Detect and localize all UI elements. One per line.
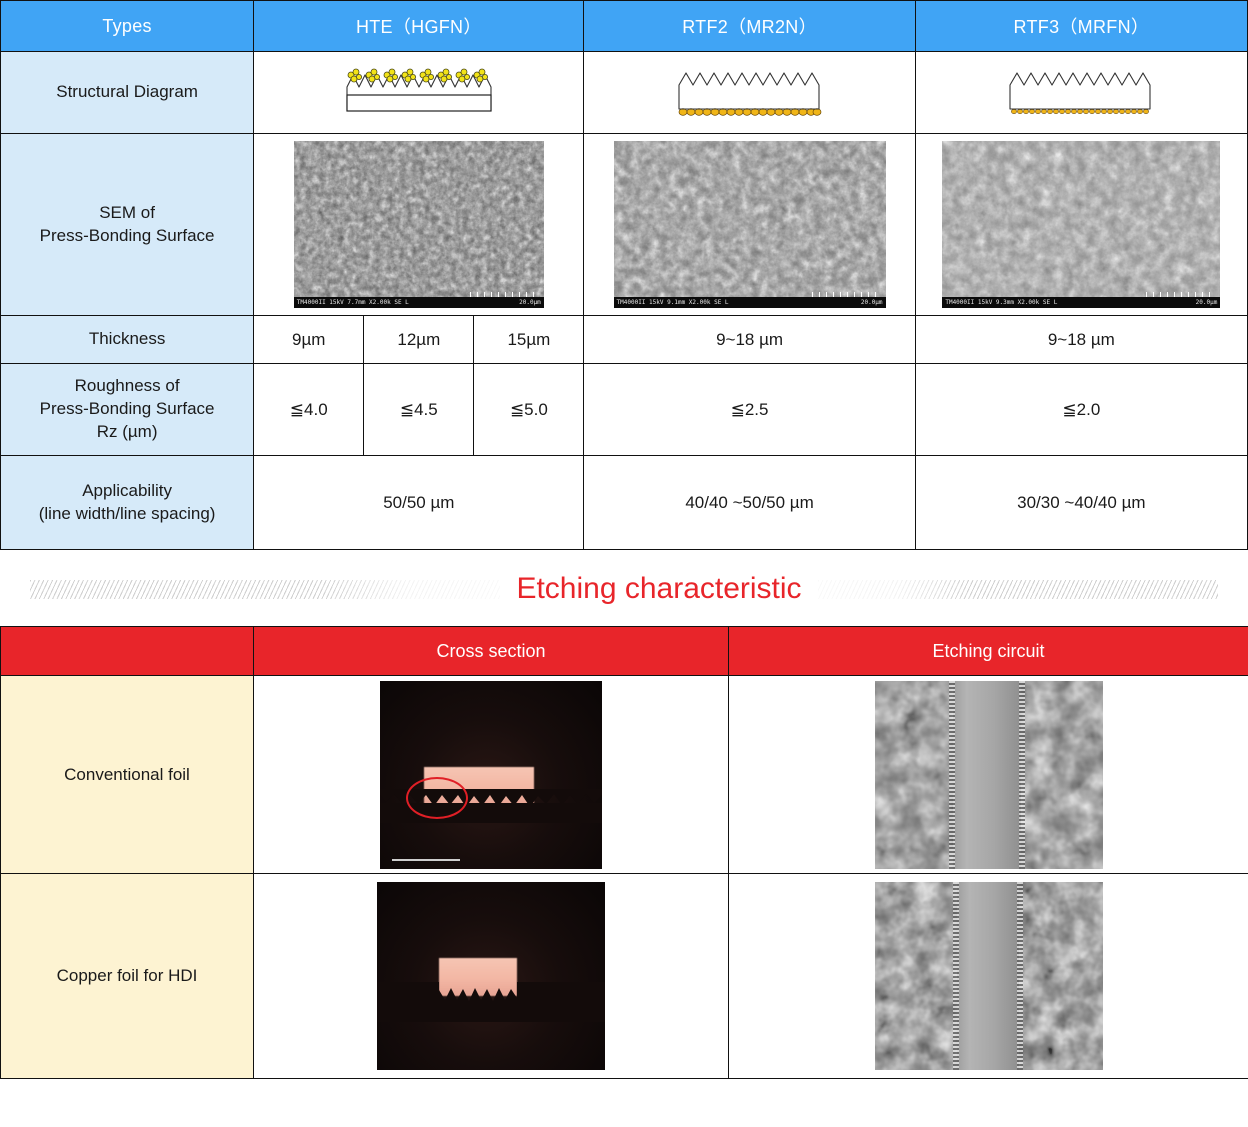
header-rtf2: RTF2（MR2N）	[584, 1, 915, 52]
roughness-hte-12um: ≦4.5	[364, 364, 474, 456]
structural-diagram-hte	[254, 52, 584, 134]
thickness-hte-9um: 9µm	[254, 316, 364, 364]
thickness-rtf2: 9~18 µm	[584, 316, 915, 364]
structural-diagram-rtf3	[915, 52, 1247, 134]
applicability-rtf3: 30/30 ~40/40 µm	[915, 456, 1247, 550]
row-label-roughness-line2: Press-Bonding Surface	[1, 398, 253, 421]
row-label-structural-diagram: Structural Diagram	[1, 52, 254, 134]
copper-foil-comparison-table: Types HTE（HGFN） RTF2（MR2N） RTF3（MRFN） St…	[0, 0, 1248, 550]
applicability-rtf2: 40/40 ~50/50 µm	[584, 456, 915, 550]
sem-caption-info-rtf2: TM4000II 15kV 9.1mm X2.00k SE L	[617, 297, 729, 308]
scale-underline-conventional	[392, 859, 460, 861]
anchor-teeth-hdi	[377, 982, 605, 1022]
table-header-row: Types HTE（HGFN） RTF2（MR2N） RTF3（MRFN）	[1, 1, 1248, 52]
row-label-sem-line2: Press-Bonding Surface	[1, 225, 253, 248]
rtf3-profile-icon	[996, 65, 1166, 121]
etching-header-row: Cross section Etching circuit	[1, 627, 1248, 676]
roughness-rtf2: ≦2.5	[584, 364, 915, 456]
cross-section-conventional	[254, 676, 729, 874]
etching-characteristic-table: Cross section Etching circuit Convention…	[0, 626, 1248, 1079]
roughness-rtf3: ≦2.0	[915, 364, 1247, 456]
sem-caption-bar-rtf3: TM4000II 15kV 9.3mm X2.00k SE L 20.0µm	[942, 297, 1220, 308]
etching-header-cross-section: Cross section	[254, 627, 729, 676]
cross-section-micrograph-hdi	[377, 882, 605, 1070]
circuit-edge-left-conventional	[949, 681, 955, 869]
section-banner: Etching characteristic	[0, 558, 1248, 620]
etching-circuit-sem-conventional	[875, 681, 1103, 869]
sem-caption-scale-rtf3: 20.0µm	[1196, 297, 1218, 308]
etching-circuit-sem-hdi	[875, 882, 1103, 1070]
row-label-sem: SEM of Press-Bonding Surface	[1, 134, 254, 316]
thickness-rtf3: 9~18 µm	[915, 316, 1247, 364]
etching-header-etching-circuit: Etching circuit	[729, 627, 1248, 676]
row-label-roughness: Roughness of Press-Bonding Surface Rz (µ…	[1, 364, 254, 456]
thickness-hte-15um: 15µm	[474, 316, 584, 364]
table-row-sem: SEM of Press-Bonding Surface	[1, 134, 1248, 316]
row-label-roughness-line1: Roughness of	[1, 375, 253, 398]
circuit-trace-conventional	[953, 681, 1021, 869]
banner-hatch-right	[818, 580, 1218, 599]
row-label-conventional-foil: Conventional foil	[1, 676, 254, 874]
row-label-applicability-line2: (line width/line spacing)	[1, 503, 253, 526]
sem-image-rtf2: TM4000II 15kV 9.1mm X2.00k SE L 20.0µm	[584, 134, 915, 316]
etching-circuit-hdi	[729, 874, 1248, 1079]
header-rtf3: RTF3（MRFN）	[915, 1, 1247, 52]
header-hte: HTE（HGFN）	[254, 1, 584, 52]
circuit-edge-left-hdi	[953, 882, 959, 1070]
sem-image-rtf3: TM4000II 15kV 9.3mm X2.00k SE L 20.0µm	[915, 134, 1247, 316]
sem-image-hte: TM4000II 15kV 7.7mm X2.00k SE L 20.0µm	[254, 134, 584, 316]
row-label-applicability: Applicability (line width/line spacing)	[1, 456, 254, 550]
sem-caption-scale-hte: 20.0µm	[519, 297, 541, 308]
sem-caption-scale-rtf2: 20.0µm	[861, 297, 883, 308]
sem-caption-info-hte: TM4000II 15kV 7.7mm X2.00k SE L	[297, 297, 409, 308]
etching-row-conventional-foil: Conventional foil	[1, 676, 1248, 874]
structural-diagram-rtf2	[584, 52, 915, 134]
cross-section-micrograph-conventional	[380, 681, 602, 869]
table-row-thickness: Thickness 9µm 12µm 15µm 9~18 µm 9~18 µm	[1, 316, 1248, 364]
hte-profile-icon	[335, 65, 503, 121]
section-title: Etching characteristic	[500, 572, 817, 606]
etching-header-blank	[1, 627, 254, 676]
sem-caption-info-rtf3: TM4000II 15kV 9.3mm X2.00k SE L	[945, 297, 1057, 308]
applicability-hte: 50/50 µm	[254, 456, 584, 550]
header-types: Types	[1, 1, 254, 52]
circuit-edge-right-conventional	[1019, 681, 1025, 869]
banner-hatch-left	[30, 580, 500, 599]
table-row-roughness: Roughness of Press-Bonding Surface Rz (µ…	[1, 364, 1248, 456]
roughness-hte-15um: ≦5.0	[474, 364, 584, 456]
thickness-hte-12um: 12µm	[364, 316, 474, 364]
row-label-roughness-line3: Rz (µm)	[1, 421, 253, 444]
row-label-sem-line1: SEM of	[1, 202, 253, 225]
circuit-trace-hdi	[957, 882, 1019, 1070]
sem-texture-rtf3	[942, 141, 1220, 308]
row-label-copper-foil-hdi: Copper foil for HDI	[1, 874, 254, 1079]
sem-caption-bar-hte: TM4000II 15kV 7.7mm X2.00k SE L 20.0µm	[294, 297, 544, 308]
table-row-structural-diagram: Structural Diagram	[1, 52, 1248, 134]
sem-texture-rtf2	[614, 141, 886, 308]
table-row-applicability: Applicability (line width/line spacing) …	[1, 456, 1248, 550]
etching-circuit-conventional	[729, 676, 1248, 874]
sem-texture-hte	[294, 141, 544, 308]
roughness-hte-9um: ≦4.0	[254, 364, 364, 456]
row-label-thickness: Thickness	[1, 316, 254, 364]
etching-row-copper-foil-hdi: Copper foil for HDI	[1, 874, 1248, 1079]
circuit-edge-right-hdi	[1017, 882, 1023, 1070]
cross-section-hdi	[254, 874, 729, 1079]
row-label-applicability-line1: Applicability	[1, 480, 253, 503]
defect-annotation-ellipse	[406, 777, 468, 819]
rtf2-profile-icon	[665, 65, 835, 121]
sem-caption-bar-rtf2: TM4000II 15kV 9.1mm X2.00k SE L 20.0µm	[614, 297, 886, 308]
